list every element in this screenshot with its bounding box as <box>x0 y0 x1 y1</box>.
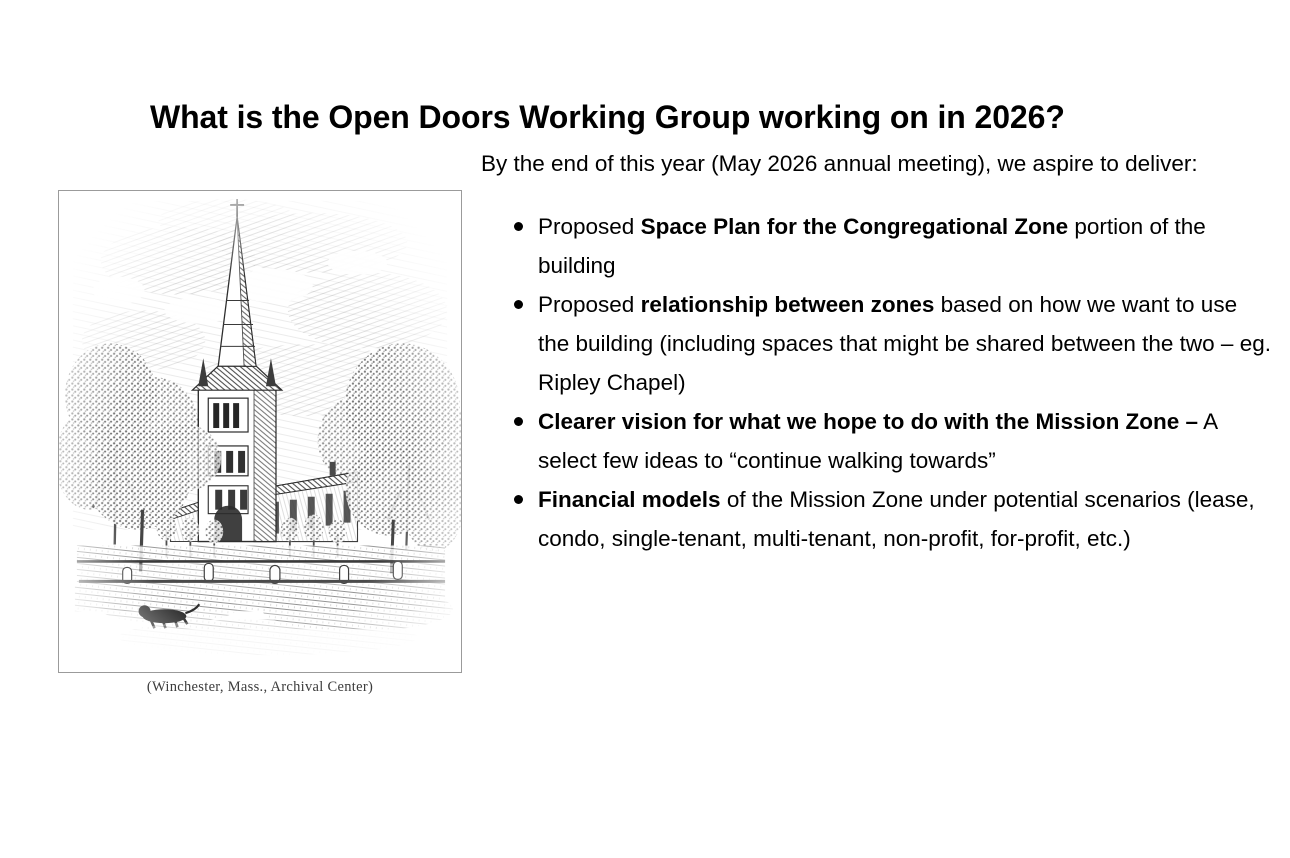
bullet-text: Clearer vision for what we hope to do wi… <box>538 402 1271 480</box>
bullet-bold: Financial models <box>538 487 721 512</box>
illustration-caption: (Winchester, Mass., Archival Center) <box>58 679 462 696</box>
intro-paragraph: By the end of this year (May 2026 annual… <box>481 147 1221 181</box>
bullet-text: Proposed Space Plan for the Congregation… <box>538 207 1271 285</box>
list-item: Financial models of the Mission Zone und… <box>481 480 1271 558</box>
bullet-text: Financial models of the Mission Zone und… <box>538 480 1271 558</box>
church-engraving-icon <box>59 191 461 672</box>
bullet-text: Proposed relationship between zones base… <box>538 285 1271 402</box>
bullet-dot-icon <box>514 222 523 231</box>
church-engraving-image <box>58 190 462 673</box>
bullet-dot-icon <box>514 417 523 426</box>
list-item: Clearer vision for what we hope to do wi… <box>481 402 1271 480</box>
bullet-dot-icon <box>514 495 523 504</box>
bullet-pre: Proposed <box>538 292 641 317</box>
list-item: Proposed relationship between zones base… <box>481 285 1271 402</box>
bullet-bold: Space Plan for the Congregational Zone <box>641 214 1069 239</box>
bullet-dot-icon <box>514 300 523 309</box>
list-item: Proposed Space Plan for the Congregation… <box>481 207 1271 285</box>
body-column: By the end of this year (May 2026 annual… <box>481 124 1271 558</box>
deliverables-list: Proposed Space Plan for the Congregation… <box>481 207 1271 558</box>
bullet-bold: Clearer vision for what we hope to do wi… <box>538 409 1198 434</box>
bullet-bold: relationship between zones <box>641 292 935 317</box>
illustration-block: (Winchester, Mass., Archival Center) <box>58 190 466 696</box>
bullet-pre: Proposed <box>538 214 641 239</box>
